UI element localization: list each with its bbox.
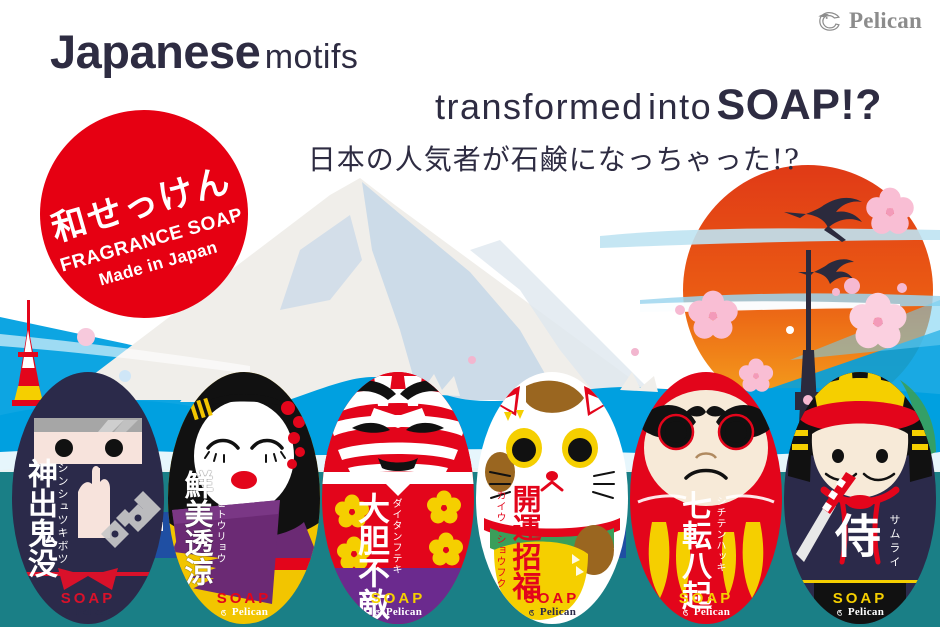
soap-kana: ダイタンフテキ: [390, 498, 400, 575]
soap-label: SOAP: [168, 590, 320, 607]
poster-canvas: Pelican Japanese motifs transformed into…: [0, 0, 940, 627]
soap-kanji: 侍: [832, 512, 878, 558]
soap-geisha[interactable]: 鮮美透涼 センビトウリョウ SOAP Pelican: [168, 372, 320, 624]
soap-kana: カイウンショウフク: [494, 490, 504, 589]
soap-kana: シチテンハッキ: [714, 496, 724, 573]
soap-kanji: 開運招福: [510, 484, 539, 600]
headline-word-japanese: Japanese: [50, 25, 260, 78]
soap-brand: Pelican: [76, 606, 112, 618]
soap-label: SOAP: [784, 590, 936, 607]
soap-kana: サムライ: [888, 514, 899, 570]
soap-brand: Pelican: [694, 606, 730, 618]
soap-brand: Pelican: [540, 606, 576, 618]
soap-daruma[interactable]: 七転八起 シチテンハッキ SOAP Pelican: [630, 372, 782, 624]
soap-label: SOAP: [12, 590, 164, 607]
soap-brand: Pelican: [848, 606, 884, 618]
soap-kanji: 神出鬼没: [24, 458, 54, 578]
soap-samurai[interactable]: 侍 サムライ SOAP Pelican: [784, 372, 936, 624]
soap-label: SOAP: [476, 590, 628, 607]
samurai-artwork: [784, 372, 936, 624]
soap-label: SOAP: [322, 590, 474, 607]
soap-kanji: 鮮美透涼: [182, 470, 211, 586]
soap-maneki-neko[interactable]: 開運招福 カイウンショウフク SOAP Pelican: [476, 372, 628, 624]
soap-kana: センビトウリョウ: [214, 476, 224, 564]
soap-kana: シンシュツキボツ: [56, 462, 67, 566]
headline-word-transformed: transformed: [435, 86, 644, 127]
soap-brand: Pelican: [386, 606, 422, 618]
headline-line-1: Japanese motifs: [0, 24, 910, 79]
subtitle-japanese: 日本の人気者が石鹸になっちゃった!?: [308, 138, 800, 178]
fragrance-soap-badge: 和せっけん FRAGRANCE SOAP Made in Japan: [40, 110, 248, 318]
soap-label: SOAP: [630, 590, 782, 607]
soap-brand: Pelican: [232, 606, 268, 618]
headline-word-motifs: motifs: [265, 38, 359, 76]
soap-kabuki[interactable]: 大胆不敵 ダイタンフテキ SOAP Pelican: [322, 372, 474, 624]
headline-word-into: into: [648, 86, 712, 127]
headline-word-soap: SOAP!?: [717, 81, 882, 129]
soap-ninja[interactable]: 神出鬼没 シンシュツキボツ SOAP Pelican: [12, 372, 164, 624]
